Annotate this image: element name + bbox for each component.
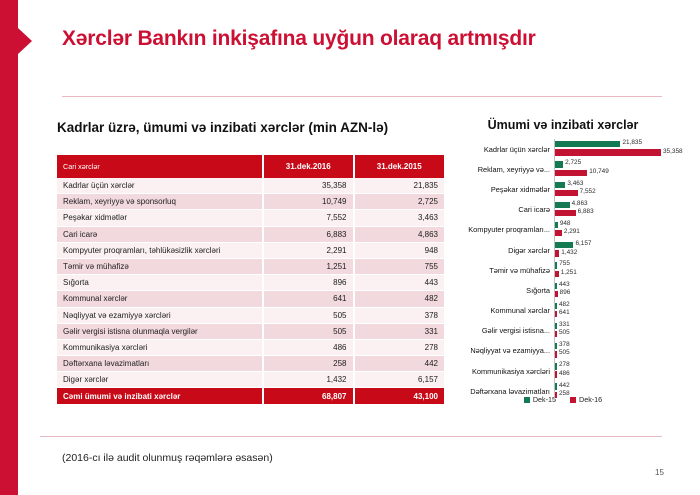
- table-header: Cari xərclər 31.dek.2016 31.dek.2015: [57, 155, 444, 178]
- chart-category-label: Peşəkar xidmətlər: [432, 185, 554, 194]
- left-accent-rail: [0, 0, 18, 495]
- row-label: Nəqliyyat və ezamiyyə xərcləri: [57, 307, 263, 323]
- row-label: Gəlir vergisi istisna olunmaqla vergilər: [57, 323, 263, 339]
- chart-bar-track: 378505: [554, 341, 694, 361]
- chart-category-row: Gəlir vergisi istisna...331505: [432, 321, 694, 341]
- expense-table: Cari xərclər 31.dek.2016 31.dek.2015 Kad…: [57, 155, 444, 405]
- row-value-2015: 755: [354, 258, 445, 274]
- chart-bar-track: 278486: [554, 361, 694, 381]
- chart-bar-dek-15: [555, 323, 557, 329]
- chart-bar-dek-15: [555, 141, 620, 147]
- chart-category-row: Cari icarə4,8636,883: [432, 200, 694, 220]
- chart-bar-dek-15: [555, 242, 573, 248]
- chart-category-row: Sığorta443896: [432, 280, 694, 300]
- chevron-right-icon: [18, 28, 32, 54]
- chart-bar-value: 896: [560, 289, 571, 296]
- table-body: Kadrlar üçün xərclər35,35821,835Reklam, …: [57, 178, 444, 404]
- table-row: Kadrlar üçün xərclər35,35821,835: [57, 178, 444, 194]
- chart-category-label: Gəlir vergisi istisna...: [432, 326, 554, 335]
- column-header-label: Cari xərclər: [57, 155, 263, 178]
- table-total-row: Cəmi ümumi və inzibati xərclər68,80743,1…: [57, 388, 444, 404]
- row-value-2016: 1,432: [263, 372, 354, 388]
- chart-plot-area: Kadrlar üçün xərclər21,83535,358Reklam, …: [432, 139, 694, 389]
- row-value-2015: 2,725: [354, 194, 445, 210]
- chart-bar-value: 331: [559, 321, 570, 328]
- row-value-2016: 258: [263, 356, 354, 372]
- table-row: Reklam, xeyriyyə və sponsorluq10,7492,72…: [57, 194, 444, 210]
- table-row: Kommunal xərclər641482: [57, 291, 444, 307]
- chart-bar-track: 331505: [554, 321, 694, 341]
- row-value-2016: 505: [263, 323, 354, 339]
- chart-bar-track: 482641: [554, 301, 694, 321]
- table-row: Gəlir vergisi istisna olunmaqla vergilər…: [57, 323, 444, 339]
- chart-bar-value: 442: [559, 382, 570, 389]
- chart-bar-value: 6,157: [575, 240, 591, 247]
- chart-bar-value: 7,552: [580, 188, 596, 195]
- row-value-2016: 1,251: [263, 258, 354, 274]
- row-value-2015: 482: [354, 291, 445, 307]
- row-label: Kadrlar üçün xərclər: [57, 178, 263, 194]
- footnote-text: (2016-cı ilə audit olunmuş rəqəmlərə əsa…: [62, 452, 273, 464]
- chart-bar-value: 3,463: [567, 180, 583, 187]
- chart-bar-value: 2,725: [565, 159, 581, 166]
- row-label: Təmir və mühafizə: [57, 258, 263, 274]
- chart-bar-dek-16: [555, 210, 576, 216]
- chart-category-row: Reklam, xeyriyyə və...2,72510,749: [432, 159, 694, 179]
- chart-bar-dek-16: [555, 170, 587, 176]
- table-row: Cari icarə6,8834,863: [57, 226, 444, 242]
- chart-bar-value: 755: [559, 260, 570, 267]
- column-header-2015: 31.dek.2015: [354, 155, 445, 178]
- chart-bar-track: 4,8636,883: [554, 200, 694, 220]
- chart-category-row: Kommunikasiya xərcləri278486: [432, 361, 694, 381]
- chart-bar-dek-15: [555, 222, 558, 228]
- table-row: Peşəkar xidmətlər7,5523,463: [57, 210, 444, 226]
- chart-bar-track: 9482,291: [554, 220, 694, 240]
- table-row: Təmir və mühafizə1,251755: [57, 258, 444, 274]
- row-value-2015: 948: [354, 242, 445, 258]
- chart-category-row: Nəqliyyat və ezamiyya...378505: [432, 341, 694, 361]
- chart-bar-dek-15: [555, 182, 565, 188]
- chart-bar-value: 35,358: [663, 148, 683, 155]
- chart-bar-track: 442258: [554, 381, 694, 401]
- chart-panel: Ümumi və inzibati xərclər Kadrlar üçün x…: [432, 118, 694, 430]
- chart-category-label: Təmir və mühafizə: [432, 266, 554, 275]
- chart-category-row: Kompyuter proqramları...9482,291: [432, 220, 694, 240]
- chart-bar-dek-15: [555, 202, 570, 208]
- chart-bar-dek-16: [555, 190, 578, 196]
- table-row: Kommunikasiya xərcləri486278: [57, 339, 444, 355]
- chart-bar-dek-15: [555, 161, 563, 167]
- chart-bar-value: 948: [560, 220, 571, 227]
- row-value-2015: 4,863: [354, 226, 445, 242]
- chart-bar-dek-16: [555, 291, 558, 297]
- row-label: Digər xərclər: [57, 372, 263, 388]
- row-value-2016: 896: [263, 275, 354, 291]
- row-value-2016: 2,291: [263, 242, 354, 258]
- chart-bar-value: 2,291: [564, 228, 580, 235]
- row-label: Kommunikasiya xərcləri: [57, 339, 263, 355]
- row-value-2016: 486: [263, 339, 354, 355]
- chart-bar-track: 443896: [554, 280, 694, 300]
- table-row: Digər xərclər1,4326,157: [57, 372, 444, 388]
- row-label: Peşəkar xidmətlər: [57, 210, 263, 226]
- row-label: Cari icarə: [57, 226, 263, 242]
- chart-bar-track: 2,72510,749: [554, 159, 694, 179]
- table-row: Kompyuter proqramları, təhlükəsizlik xər…: [57, 242, 444, 258]
- chart-bar-value: 1,251: [561, 269, 577, 276]
- chart-bar-value: 486: [559, 370, 570, 377]
- chart-bar-track: 3,4637,552: [554, 179, 694, 199]
- chart-bar-dek-16: [555, 351, 557, 357]
- total-label: Cəmi ümumi və inzibati xərclər: [57, 388, 263, 404]
- table-caption: Kadrlar üzrə, ümumi və inzibati xərclər …: [57, 120, 388, 135]
- table-header-row: Cari xərclər 31.dek.2016 31.dek.2015: [57, 155, 444, 178]
- chart-category-label: Reklam, xeyriyyə və...: [432, 165, 554, 174]
- chart-bar-value: 641: [559, 309, 570, 316]
- row-value-2015: 442: [354, 356, 445, 372]
- row-label: Kommunal xərclər: [57, 291, 263, 307]
- chart-category-label: Kommunikasiya xərcləri: [432, 367, 554, 376]
- table-row: Sığorta896443: [57, 275, 444, 291]
- column-header-2016: 31.dek.2016: [263, 155, 354, 178]
- chart-bar-dek-16: [555, 311, 557, 317]
- chart-bar-value: 21,835: [622, 139, 642, 146]
- row-value-2016: 6,883: [263, 226, 354, 242]
- chart-bar-value: 1,432: [561, 249, 577, 256]
- row-value-2015: 3,463: [354, 210, 445, 226]
- row-label: Kompyuter proqramları, təhlükəsizlik xər…: [57, 242, 263, 258]
- chart-bar-value: 505: [559, 349, 570, 356]
- chart-bar-value: 443: [559, 281, 570, 288]
- total-value-2016: 68,807: [263, 388, 354, 404]
- chart-category-row: Digər xərclər6,1571,432: [432, 240, 694, 260]
- chart-category-row: Dəftərxana ləvazimatları442258: [432, 381, 694, 401]
- chart-category-label: Digər xərclər: [432, 246, 554, 255]
- page-title: Xərclər Bankın inkişafına uyğun olaraq a…: [62, 27, 536, 51]
- chart-bar-dek-16: [555, 149, 661, 155]
- chart-bar-dek-15: [555, 262, 557, 268]
- chart-bar-value: 6,883: [578, 208, 594, 215]
- chart-category-label: Nəqliyyat və ezamiyya...: [432, 346, 554, 355]
- chart-title: Ümumi və inzibati xərclər: [432, 118, 694, 132]
- chart-bar-dek-15: [555, 343, 557, 349]
- chart-bar-value: 258: [559, 390, 570, 397]
- title-divider: [62, 96, 662, 97]
- row-value-2016: 35,358: [263, 178, 354, 194]
- chart-bar-dek-16: [555, 331, 557, 337]
- row-value-2016: 641: [263, 291, 354, 307]
- chart-category-label: Kommunal xərclar: [432, 306, 554, 315]
- row-value-2015: 278: [354, 339, 445, 355]
- chart-bar-dek-15: [555, 283, 557, 289]
- chart-bar-dek-16: [555, 230, 562, 236]
- table-row: Dəftərxana ləvazimatları258442: [57, 356, 444, 372]
- chart-category-label: Kompyuter proqramları...: [432, 225, 554, 234]
- chart-bar-dek-15: [555, 363, 557, 369]
- chart-bar-dek-15: [555, 303, 557, 309]
- chart-category-label: Cari icarə: [432, 205, 554, 214]
- chart-bar-track: 7551,251: [554, 260, 694, 280]
- total-value-2015: 43,100: [354, 388, 445, 404]
- row-value-2015: 443: [354, 275, 445, 291]
- chart-bar-dek-16: [555, 371, 557, 377]
- chart-bar-value: 10,749: [589, 168, 609, 175]
- footer-divider: [40, 436, 662, 437]
- chart-category-row: Kadrlar üçün xərclər21,83535,358: [432, 139, 694, 159]
- row-value-2015: 21,835: [354, 178, 445, 194]
- row-label: Sığorta: [57, 275, 263, 291]
- chart-category-row: Təmir və mühafizə7551,251: [432, 260, 694, 280]
- row-value-2015: 6,157: [354, 372, 445, 388]
- row-value-2016: 7,552: [263, 210, 354, 226]
- row-value-2016: 505: [263, 307, 354, 323]
- chart-bar-dek-16: [555, 392, 557, 398]
- chart-bar-value: 278: [559, 361, 570, 368]
- chart-bar-dek-16: [555, 271, 559, 277]
- chart-category-label: Kadrlar üçün xərclər: [432, 145, 554, 154]
- chart-bar-value: 4,863: [572, 200, 588, 207]
- chart-bar-dek-15: [555, 383, 557, 389]
- row-value-2016: 10,749: [263, 194, 354, 210]
- chart-bar-track: 6,1571,432: [554, 240, 694, 260]
- row-label: Reklam, xeyriyyə və sponsorluq: [57, 194, 263, 210]
- page-number: 15: [655, 468, 664, 477]
- chart-bar-track: 21,83535,358: [554, 139, 694, 159]
- chart-bar-value: 378: [559, 341, 570, 348]
- table-row: Nəqliyyat və ezamiyyə xərcləri505378: [57, 307, 444, 323]
- row-label: Dəftərxana ləvazimatları: [57, 356, 263, 372]
- row-value-2015: 378: [354, 307, 445, 323]
- chart-bar-value: 505: [559, 329, 570, 336]
- chart-bar-dek-16: [555, 250, 559, 256]
- row-value-2015: 331: [354, 323, 445, 339]
- chart-bar-value: 482: [559, 301, 570, 308]
- chart-category-row: Peşəkar xidmətlər3,4637,552: [432, 179, 694, 199]
- chart-category-label: Dəftərxana ləvazimatları: [432, 387, 554, 396]
- chart-category-label: Sığorta: [432, 286, 554, 295]
- chart-category-row: Kommunal xərclar482641: [432, 301, 694, 321]
